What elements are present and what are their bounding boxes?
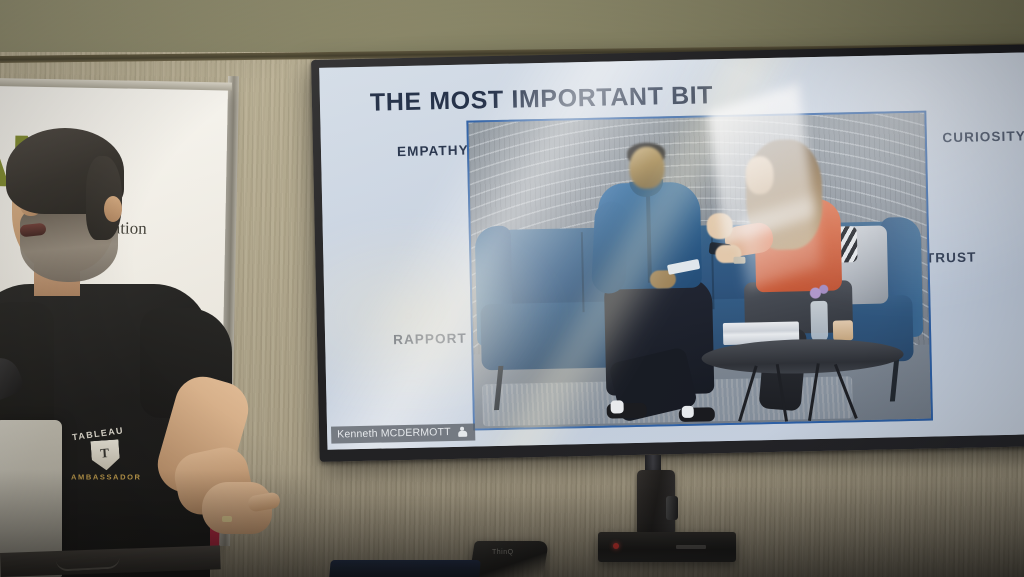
photo-person-right-face (745, 156, 774, 195)
tshirt-logo-shield-letter: T (100, 445, 110, 462)
slide-label-trust: TRUST (926, 250, 977, 266)
photo-cup (833, 320, 853, 340)
presentation-slide: THE MOST IMPORTANT BIT EMPATHY RAPPORT C… (319, 52, 1024, 450)
tv-screen[interactable]: THE MOST IMPORTANT BIT EMPATHY RAPPORT C… (319, 52, 1024, 450)
slide-label-curiosity: CURIOSITY (942, 128, 1024, 145)
slide-label-rapport: RAPPORT (393, 331, 467, 348)
photo-person-right-watch (733, 257, 745, 264)
room-bottom-shadow (0, 470, 1024, 577)
slide-title: THE MOST IMPORTANT BIT (370, 81, 714, 117)
screenshot-root: THE MOST IMPORTANT BIT EMPATHY RAPPORT C… (0, 0, 1024, 577)
photo-person-left-shoe-sole (682, 406, 694, 418)
photo-vase (810, 301, 828, 343)
photo-person-right-hand (706, 213, 733, 240)
participant-name: Kenneth MCDERMOTT (337, 426, 451, 440)
slide-label-empathy: EMPATHY (397, 143, 469, 160)
person-icon (458, 426, 467, 437)
presenter-ear (104, 196, 122, 222)
slide-photo (466, 111, 933, 431)
wall-mounted-tv[interactable]: THE MOST IMPORTANT BIT EMPATHY RAPPORT C… (311, 44, 1024, 462)
video-call-name-tag: Kenneth MCDERMOTT (331, 424, 475, 444)
photo-person-left-arm (591, 201, 629, 295)
photo-table-legs (746, 362, 851, 422)
photo-person-left-shoe-sole (611, 400, 624, 413)
photo-person-left-head (629, 146, 665, 189)
